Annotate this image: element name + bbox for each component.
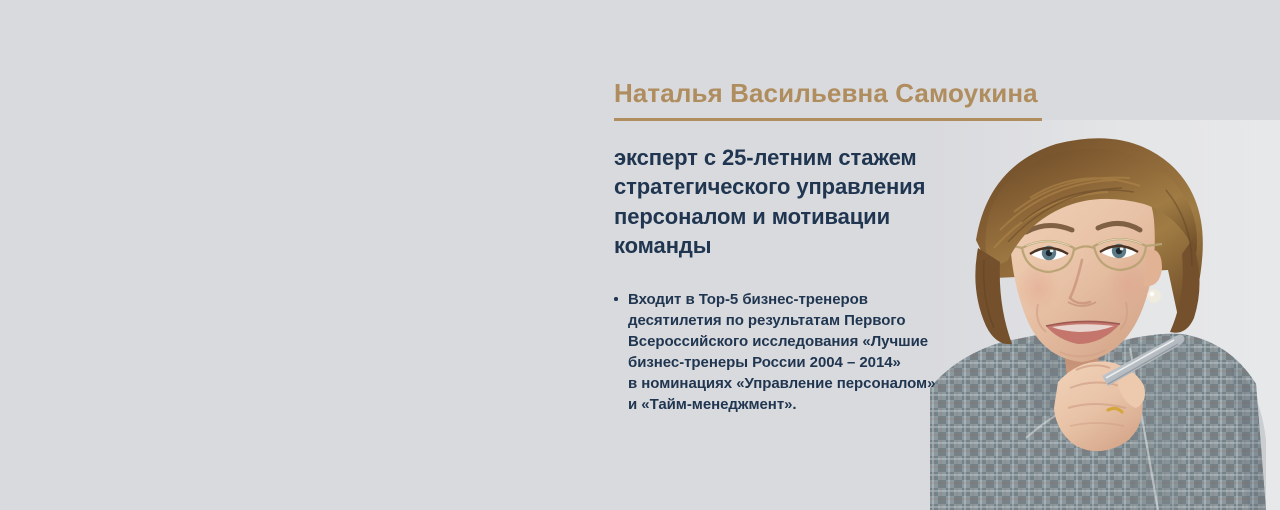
achievements-list: Входит в Top-5 бизнес-тренеров десятилет… <box>614 289 1044 415</box>
list-item-line: в номинациях «Управление персоналом» <box>628 373 1044 394</box>
list-item-line: бизнес-тренеры России 2004 – 2014» <box>628 352 1044 373</box>
list-item-line: и «Тайм-менеджмент». <box>628 394 1044 415</box>
list-item-line: десятилетия по результатам Первого <box>628 310 1044 331</box>
bullet-dot-icon <box>614 297 618 301</box>
list-item-line: Входит в Top-5 бизнес-тренеров <box>628 289 1044 310</box>
list-item-line: Всероссийского исследования «Лучшие <box>628 331 1044 352</box>
list-item: Входит в Top-5 бизнес-тренеров десятилет… <box>614 289 1044 415</box>
title-divider <box>614 118 1042 121</box>
page-title: Наталья Васильевна Самоукина <box>614 78 1044 109</box>
text-column: Наталья Васильевна Самоукина эксперт с 2… <box>614 78 1044 415</box>
lede-paragraph: эксперт с 25-летним стажем стратегическо… <box>614 143 944 260</box>
pearl-earring <box>1147 289 1161 303</box>
slide-root: Наталья Васильевна Самоукина эксперт с 2… <box>0 0 1280 510</box>
